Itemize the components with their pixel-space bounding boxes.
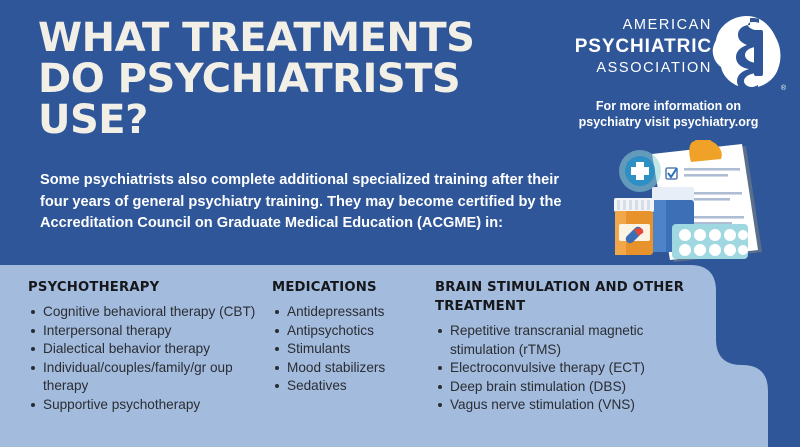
page-title: WHAT TREATMENTS DO PSYCHIATRISTS USE? [38, 18, 568, 141]
bullet-icon [438, 403, 442, 407]
intro-paragraph: Some psychiatrists also complete additio… [40, 170, 585, 235]
list-item-label: Individual/couples/family/gr oup therapy [43, 360, 233, 394]
apa-logo: AMERICAN PSYCHIATRIC ASSOCIATION ® [555, 14, 790, 94]
medications-clipboard-illustration [596, 140, 796, 265]
bullet-icon [31, 329, 35, 333]
list-item: Antipsychotics [272, 322, 427, 341]
bullet-icon [31, 310, 35, 314]
brain-caduceus-icon [710, 14, 784, 92]
list-item-label: Antipsychotics [287, 323, 374, 338]
bullet-icon [31, 347, 35, 351]
bullet-icon [275, 347, 279, 351]
list-medications: Antidepressants Antipsychotics Stimulant… [272, 303, 427, 396]
apa-logo-wordmark: AMERICAN PSYCHIATRIC ASSOCIATION [562, 16, 712, 78]
apa-logo-line-american: AMERICAN [562, 16, 712, 35]
column-medications: MEDICATIONS Antidepressants Antipsychoti… [272, 278, 427, 396]
column-heading-medications: MEDICATIONS [272, 278, 427, 297]
title-line-2: DO PSYCHIATRISTS [38, 59, 568, 100]
list-item-label: Dialectical behavior therapy [43, 341, 210, 356]
list-psychotherapy: Cognitive behavioral therapy (CBT) Inter… [28, 303, 260, 415]
list-item-label: Repetitive transcranial magnetic stimula… [450, 323, 643, 357]
list-item-label: Vagus nerve stimulation (VNS) [450, 397, 635, 412]
list-item: Individual/couples/family/gr oup therapy [28, 359, 260, 396]
list-item-label: Stimulants [287, 341, 350, 356]
apa-logo-line-psychiatric: PSYCHIATRIC [562, 35, 712, 59]
list-item-label: Cognitive behavioral therapy (CBT) [43, 304, 255, 319]
list-item: Antidepressants [272, 303, 427, 322]
list-item-label: Mood stabilizers [287, 360, 385, 375]
column-heading-psychotherapy: PSYCHOTHERAPY [28, 278, 260, 297]
list-item: Dialectical behavior therapy [28, 340, 260, 359]
list-item-label: Deep brain stimulation (DBS) [450, 379, 626, 394]
list-item: Vagus nerve stimulation (VNS) [435, 396, 700, 415]
apa-logo-line-association: ASSOCIATION [562, 59, 712, 78]
list-item-label: Electroconvulsive therapy (ECT) [450, 360, 645, 375]
bullet-icon [31, 403, 35, 407]
bullet-icon [31, 366, 35, 370]
info-line-2: psychiatry visit psychiatry.org [551, 114, 786, 130]
list-item-label: Interpersonal therapy [43, 323, 171, 338]
bullet-icon [275, 329, 279, 333]
bullet-icon [275, 384, 279, 388]
bullet-icon [438, 366, 442, 370]
list-item: Deep brain stimulation (DBS) [435, 378, 700, 397]
bullet-icon [438, 329, 442, 333]
list-item: Stimulants [272, 340, 427, 359]
bullet-icon [275, 310, 279, 314]
list-item-label: Supportive psychotherapy [43, 397, 200, 412]
column-heading-brain-stimulation: BRAIN STIMULATION AND OTHER TREATMENT [435, 278, 700, 316]
orange-pill-bottle [614, 198, 654, 255]
list-brain-stimulation: Repetitive transcranial magnetic stimula… [435, 322, 700, 415]
title-line-1: WHAT TREATMENTS [38, 18, 568, 59]
list-item: Repetitive transcranial magnetic stimula… [435, 322, 700, 359]
column-brain-stimulation: BRAIN STIMULATION AND OTHER TREATMENT Re… [435, 278, 700, 415]
bullet-icon [275, 366, 279, 370]
list-item: Mood stabilizers [272, 359, 427, 378]
list-item-label: Sedatives [287, 378, 347, 393]
title-line-3: USE? [38, 100, 568, 141]
list-item: Cognitive behavioral therapy (CBT) [28, 303, 260, 322]
list-item: Electroconvulsive therapy (ECT) [435, 359, 700, 378]
infographic-poster: WHAT TREATMENTS DO PSYCHIATRISTS USE? AM… [0, 0, 800, 447]
list-item: Interpersonal therapy [28, 322, 260, 341]
list-item-label: Antidepressants [287, 304, 384, 319]
registered-trademark-mark: ® [781, 85, 786, 92]
bullet-icon [438, 385, 442, 389]
list-item: Supportive psychotherapy [28, 396, 260, 415]
medical-cross-badge [619, 150, 661, 192]
column-psychotherapy: PSYCHOTHERAPY Cognitive behavioral thera… [28, 278, 260, 415]
list-item: Sedatives [272, 377, 427, 396]
info-line-1: For more information on [551, 98, 786, 114]
pill-blister-pack [672, 224, 748, 259]
